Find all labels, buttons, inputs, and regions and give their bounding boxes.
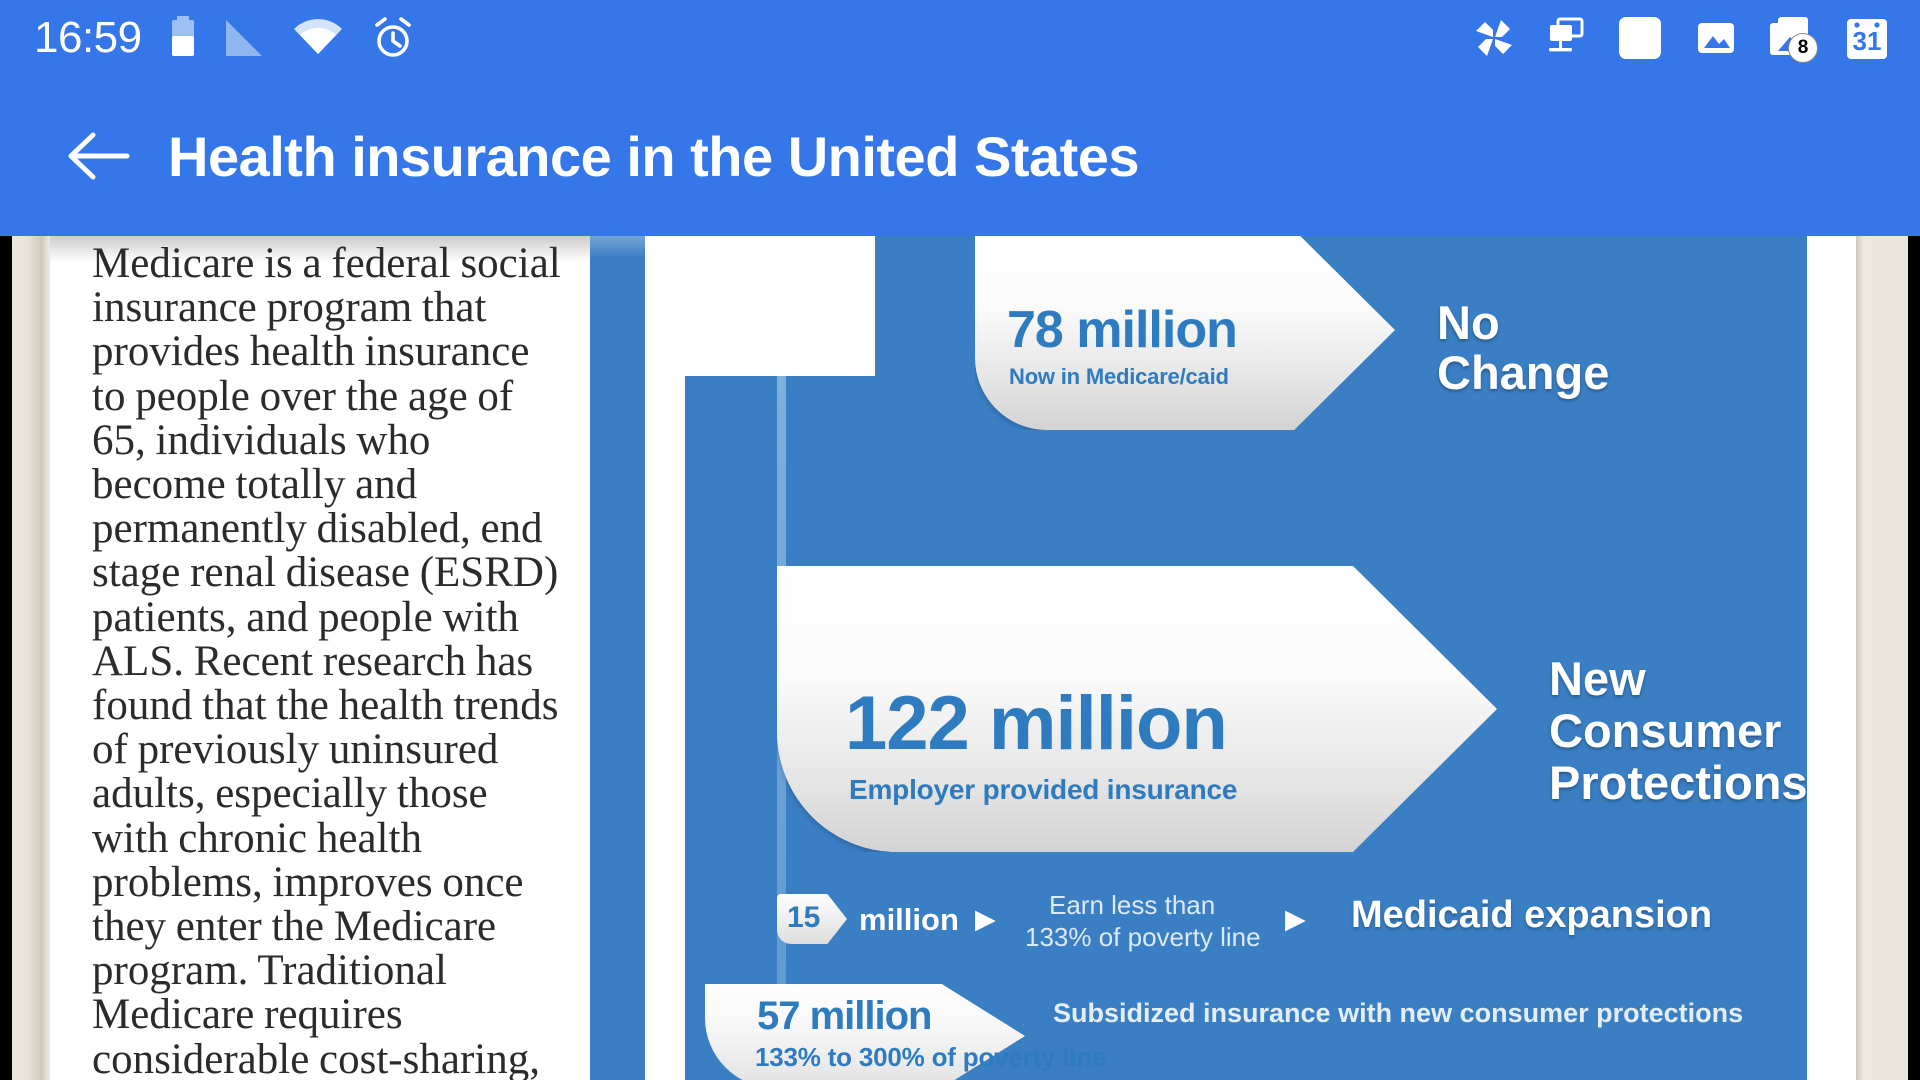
- page-edge-right: [1856, 236, 1908, 1080]
- infographic-column: 78 million Now in Medicare/caid No Chang…: [645, 236, 1856, 1080]
- right-screen-gutter: [1908, 236, 1920, 1080]
- app-bar: Health insurance in the United States: [0, 76, 1920, 236]
- number-15: 15: [787, 901, 820, 935]
- wifi-icon: [292, 18, 344, 58]
- outcome-122-line3: Protections: [1549, 758, 1807, 808]
- alarm-icon: [370, 15, 416, 61]
- page-edge-left: [12, 236, 50, 1080]
- battery-icon: [168, 16, 198, 60]
- row-57-million: 57 million 133% to 300% of poverty line …: [705, 984, 1805, 1080]
- calendar-icon: 31: [1844, 14, 1890, 62]
- arrow-icon-condition-to-outcome: ▶: [1285, 904, 1306, 935]
- chip-78-content: 78 million Now in Medicare/caid: [975, 236, 1395, 430]
- outcome-15-medicaid-expansion: Medicaid expansion: [1351, 894, 1712, 937]
- gallery-badge: 8: [1788, 33, 1818, 63]
- outcome-78-line1: No: [1437, 298, 1500, 348]
- signal-triangle-icon: [224, 18, 266, 58]
- article-page: Medicare is a federal social insurance p…: [50, 236, 1856, 1080]
- back-button[interactable]: [56, 114, 140, 198]
- content-area: Medicare is a federal social insurance p…: [0, 236, 1920, 1080]
- outcome-78-line2: Change: [1437, 348, 1609, 398]
- outcome-122-line1: New: [1549, 654, 1646, 704]
- infographic-spine-top-cap: [685, 236, 875, 376]
- row-15-million: 15 million ▶ Earn less than 133% of pove…: [777, 888, 1777, 964]
- status-bar-left-group: 16:59: [34, 15, 416, 61]
- gallery-stack-icon: 8: [1768, 15, 1814, 61]
- unit-15-million: million: [859, 902, 959, 938]
- article-body-text: Medicare is a federal social insurance p…: [92, 242, 572, 1080]
- status-bar-right-group: 8 31: [1472, 14, 1902, 62]
- health-coverage-infographic[interactable]: 78 million Now in Medicare/caid No Chang…: [685, 236, 1807, 1080]
- number-78-million: 78 million: [1007, 304, 1237, 356]
- blank-square-icon: [1616, 14, 1664, 62]
- left-screen-gutter: [0, 236, 12, 1080]
- row-78-million: 78 million Now in Medicare/caid No Chang…: [975, 236, 1395, 430]
- number-122-million: 122 million: [845, 686, 1227, 762]
- page-title: Health insurance in the United States: [168, 124, 1139, 189]
- chip-122-content: 122 million Employer provided insurance: [777, 566, 1497, 852]
- number-57-million: 57 million: [757, 996, 932, 1036]
- column-divider: [590, 236, 645, 1080]
- caption-78-million: Now in Medicare/caid: [1009, 364, 1229, 390]
- arrow-icon-15-to-condition: ▶: [975, 904, 996, 935]
- clock-text: 16:59: [34, 16, 142, 60]
- row-122-million: 122 million Employer provided insurance …: [777, 566, 1497, 852]
- outcome-57-subsidized-insurance: Subsidized insurance with new consumer p…: [1053, 998, 1743, 1029]
- back-arrow-icon: [65, 130, 131, 182]
- status-bar: 16:59: [0, 0, 1920, 76]
- condition-15-line2: 133% of poverty line: [1025, 922, 1261, 953]
- photo-icon: [1694, 16, 1738, 60]
- outcome-122-line2: Consumer: [1549, 706, 1781, 756]
- screencast-icon: [1546, 16, 1586, 60]
- calendar-day-text: 31: [1844, 26, 1890, 57]
- pinwheel-icon: [1472, 16, 1516, 60]
- android-app-screen: 16:59: [0, 0, 1920, 1080]
- condition-15-line1: Earn less than: [1049, 890, 1215, 921]
- divider-sheen: [590, 236, 645, 258]
- caption-122-million: Employer provided insurance: [849, 774, 1237, 806]
- caption-57-million: 133% to 300% of poverty line: [755, 1042, 1106, 1073]
- article-text-column[interactable]: Medicare is a federal social insurance p…: [46, 236, 606, 1080]
